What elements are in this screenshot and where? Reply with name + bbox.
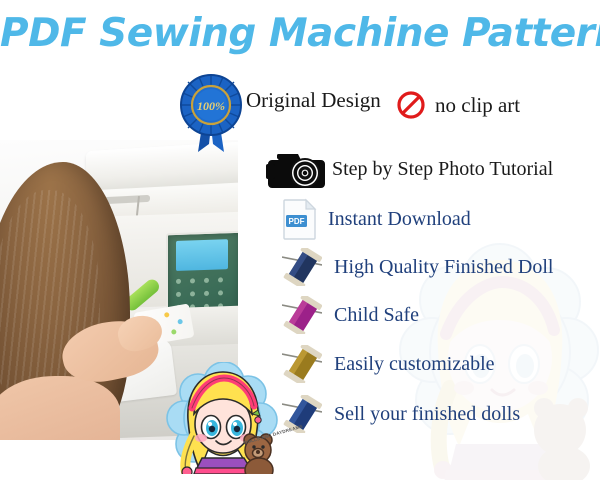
pdf-label-text: PDF (289, 217, 305, 226)
feature-label-sell-finished-dolls: Sell your finished dolls (334, 404, 520, 424)
doll-and-teddy-bear-logo (166, 362, 278, 474)
feature-high-quality: High Quality Finished Doll (282, 248, 553, 286)
badge-percent-text: 100% (197, 99, 225, 113)
prohibition-sign-icon (396, 90, 426, 120)
camera-icon (264, 148, 326, 190)
feature-child-safe: Child Safe (282, 296, 419, 334)
girl-shoulder (0, 376, 120, 440)
feature-original-design: Original Design (246, 90, 381, 111)
page-title: PDF Sewing Machine Pattern (0, 14, 600, 53)
poster-canvas: PDF Sewing Machine Pattern (0, 0, 600, 480)
feature-label-high-quality: High Quality Finished Doll (334, 257, 553, 277)
thread-spool-icon (282, 345, 322, 383)
screen-display-area (176, 239, 228, 271)
thread-spool-icon (282, 296, 322, 334)
feature-label-no-clip-art: no clip art (435, 95, 520, 116)
award-rosette-icon: 100% (178, 72, 244, 152)
feature-easily-customizable: Easily customizable (282, 345, 495, 383)
feature-sell-finished-dolls: Sell your finished dolls (282, 395, 520, 433)
feature-label-original-design: Original Design (246, 90, 381, 111)
thread-spool-icon (282, 248, 322, 286)
feature-label-easily-customizable: Easily customizable (334, 354, 495, 374)
feature-photo-tutorial: Step by Step Photo Tutorial (264, 148, 553, 190)
feature-instant-download: PDF Instant Download (282, 198, 471, 240)
feature-label-instant-download: Instant Download (328, 209, 471, 229)
pdf-file-icon: PDF (282, 198, 318, 240)
feature-label-child-safe: Child Safe (334, 305, 419, 325)
feature-label-photo-tutorial: Step by Step Photo Tutorial (332, 159, 553, 179)
feature-no-clip-art: no clip art (396, 90, 520, 120)
